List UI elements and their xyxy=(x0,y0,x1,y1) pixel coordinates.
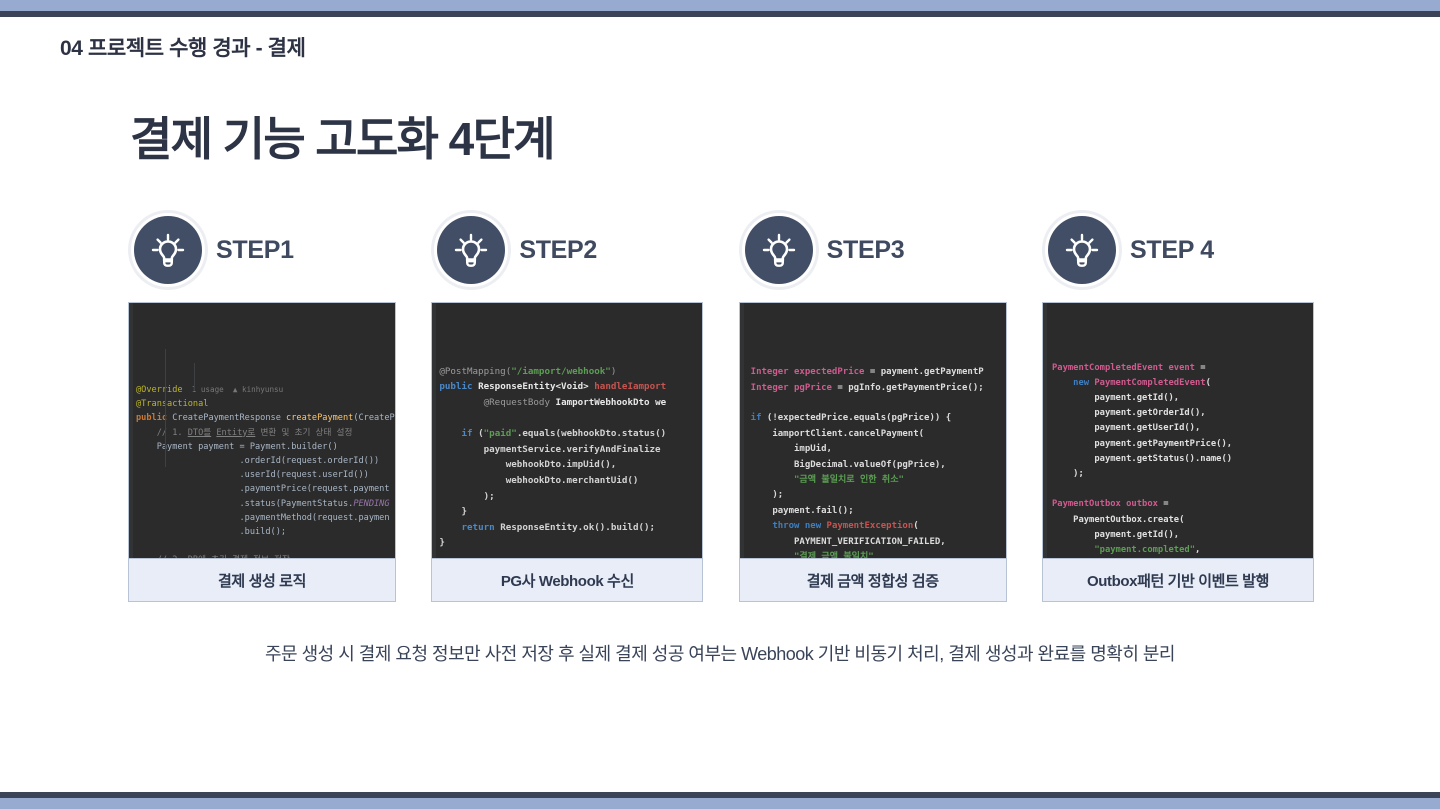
step-caption-2: PG사 Webhook 수신 xyxy=(432,558,702,601)
step-header-2: STEP2 xyxy=(431,206,703,294)
step-icon-badge-1 xyxy=(128,210,208,290)
code-gutter-3 xyxy=(740,303,744,558)
lightbulb-icon xyxy=(437,216,505,284)
step-card-1: STEP1 @Override 1 usage ▲ kinhyunsu @Tra… xyxy=(128,206,396,606)
lightbulb-icon xyxy=(134,216,202,284)
step-header-4: STEP 4 xyxy=(1042,206,1314,294)
slide: 04 프로젝트 수행 경과 - 결제 결제 기능 고도화 4단계 xyxy=(0,0,1440,809)
code-block-2: @PostMapping("/iamport/webhook") public … xyxy=(432,303,702,558)
steps-row: STEP1 @Override 1 usage ▲ kinhyunsu @Tra… xyxy=(128,206,1314,606)
code-block-1: @Override 1 usage ▲ kinhyunsu @Transacti… xyxy=(129,303,395,558)
code-card-2: @PostMapping("/iamport/webhook") public … xyxy=(431,302,703,602)
lightbulb-icon xyxy=(1048,216,1116,284)
code-block-3: Integer expectedPrice = payment.getPayme… xyxy=(740,303,1006,558)
code-indent-guide xyxy=(194,363,195,391)
bottom-accent-bar-light xyxy=(0,798,1440,809)
code-card-1: @Override 1 usage ▲ kinhyunsu @Transacti… xyxy=(128,302,396,602)
step-caption-4: Outbox패턴 기반 이벤트 발행 xyxy=(1043,558,1313,601)
top-accent-bar-light xyxy=(0,0,1440,11)
code-gutter-1 xyxy=(129,303,133,558)
step-label-2: STEP2 xyxy=(519,236,597,265)
step-header-3: STEP3 xyxy=(739,206,1007,294)
step-label-1: STEP1 xyxy=(216,236,294,265)
top-accent-bar-dark xyxy=(0,11,1440,17)
code-card-4: PaymentCompletedEvent event = new Paymen… xyxy=(1042,302,1314,602)
code-text-2: @PostMapping("/iamport/webhook") public … xyxy=(432,364,702,551)
code-gutter-4 xyxy=(1043,303,1047,558)
step-icon-badge-4 xyxy=(1042,210,1122,290)
step-card-3: STEP3 Integer expectedPrice = payment.ge… xyxy=(739,206,1007,606)
code-gutter-2 xyxy=(432,303,436,558)
step-icon-badge-2 xyxy=(431,210,511,290)
step-label-3: STEP3 xyxy=(827,236,905,265)
step-card-4: STEP 4 PaymentCompletedEvent event = new… xyxy=(1042,206,1314,606)
summary-text: 주문 생성 시 결제 요청 정보만 사전 저장 후 실제 결제 성공 여부는 W… xyxy=(0,640,1440,666)
code-indent-guide xyxy=(165,349,166,467)
code-block-4: PaymentCompletedEvent event = new Paymen… xyxy=(1043,303,1313,558)
section-kicker: 04 프로젝트 수행 경과 - 결제 xyxy=(60,32,306,62)
code-text-3: Integer expectedPrice = payment.getPayme… xyxy=(740,365,1006,558)
step-icon-badge-3 xyxy=(739,210,819,290)
code-card-3: Integer expectedPrice = payment.getPayme… xyxy=(739,302,1007,602)
page-title: 결제 기능 고도화 4단계 xyxy=(130,103,554,169)
code-text-4: PaymentCompletedEvent event = new Paymen… xyxy=(1043,361,1313,558)
step-label-4: STEP 4 xyxy=(1130,236,1214,265)
step-card-2: STEP2 @PostMapping("/iamport/webhook") p… xyxy=(431,206,703,606)
code-text-1: @Override 1 usage ▲ kinhyunsu @Transacti… xyxy=(129,383,395,558)
step-caption-1: 결제 생성 로직 xyxy=(129,558,395,601)
step-header-1: STEP1 xyxy=(128,206,396,294)
lightbulb-icon xyxy=(745,216,813,284)
step-caption-3: 결제 금액 정합성 검증 xyxy=(740,558,1006,601)
